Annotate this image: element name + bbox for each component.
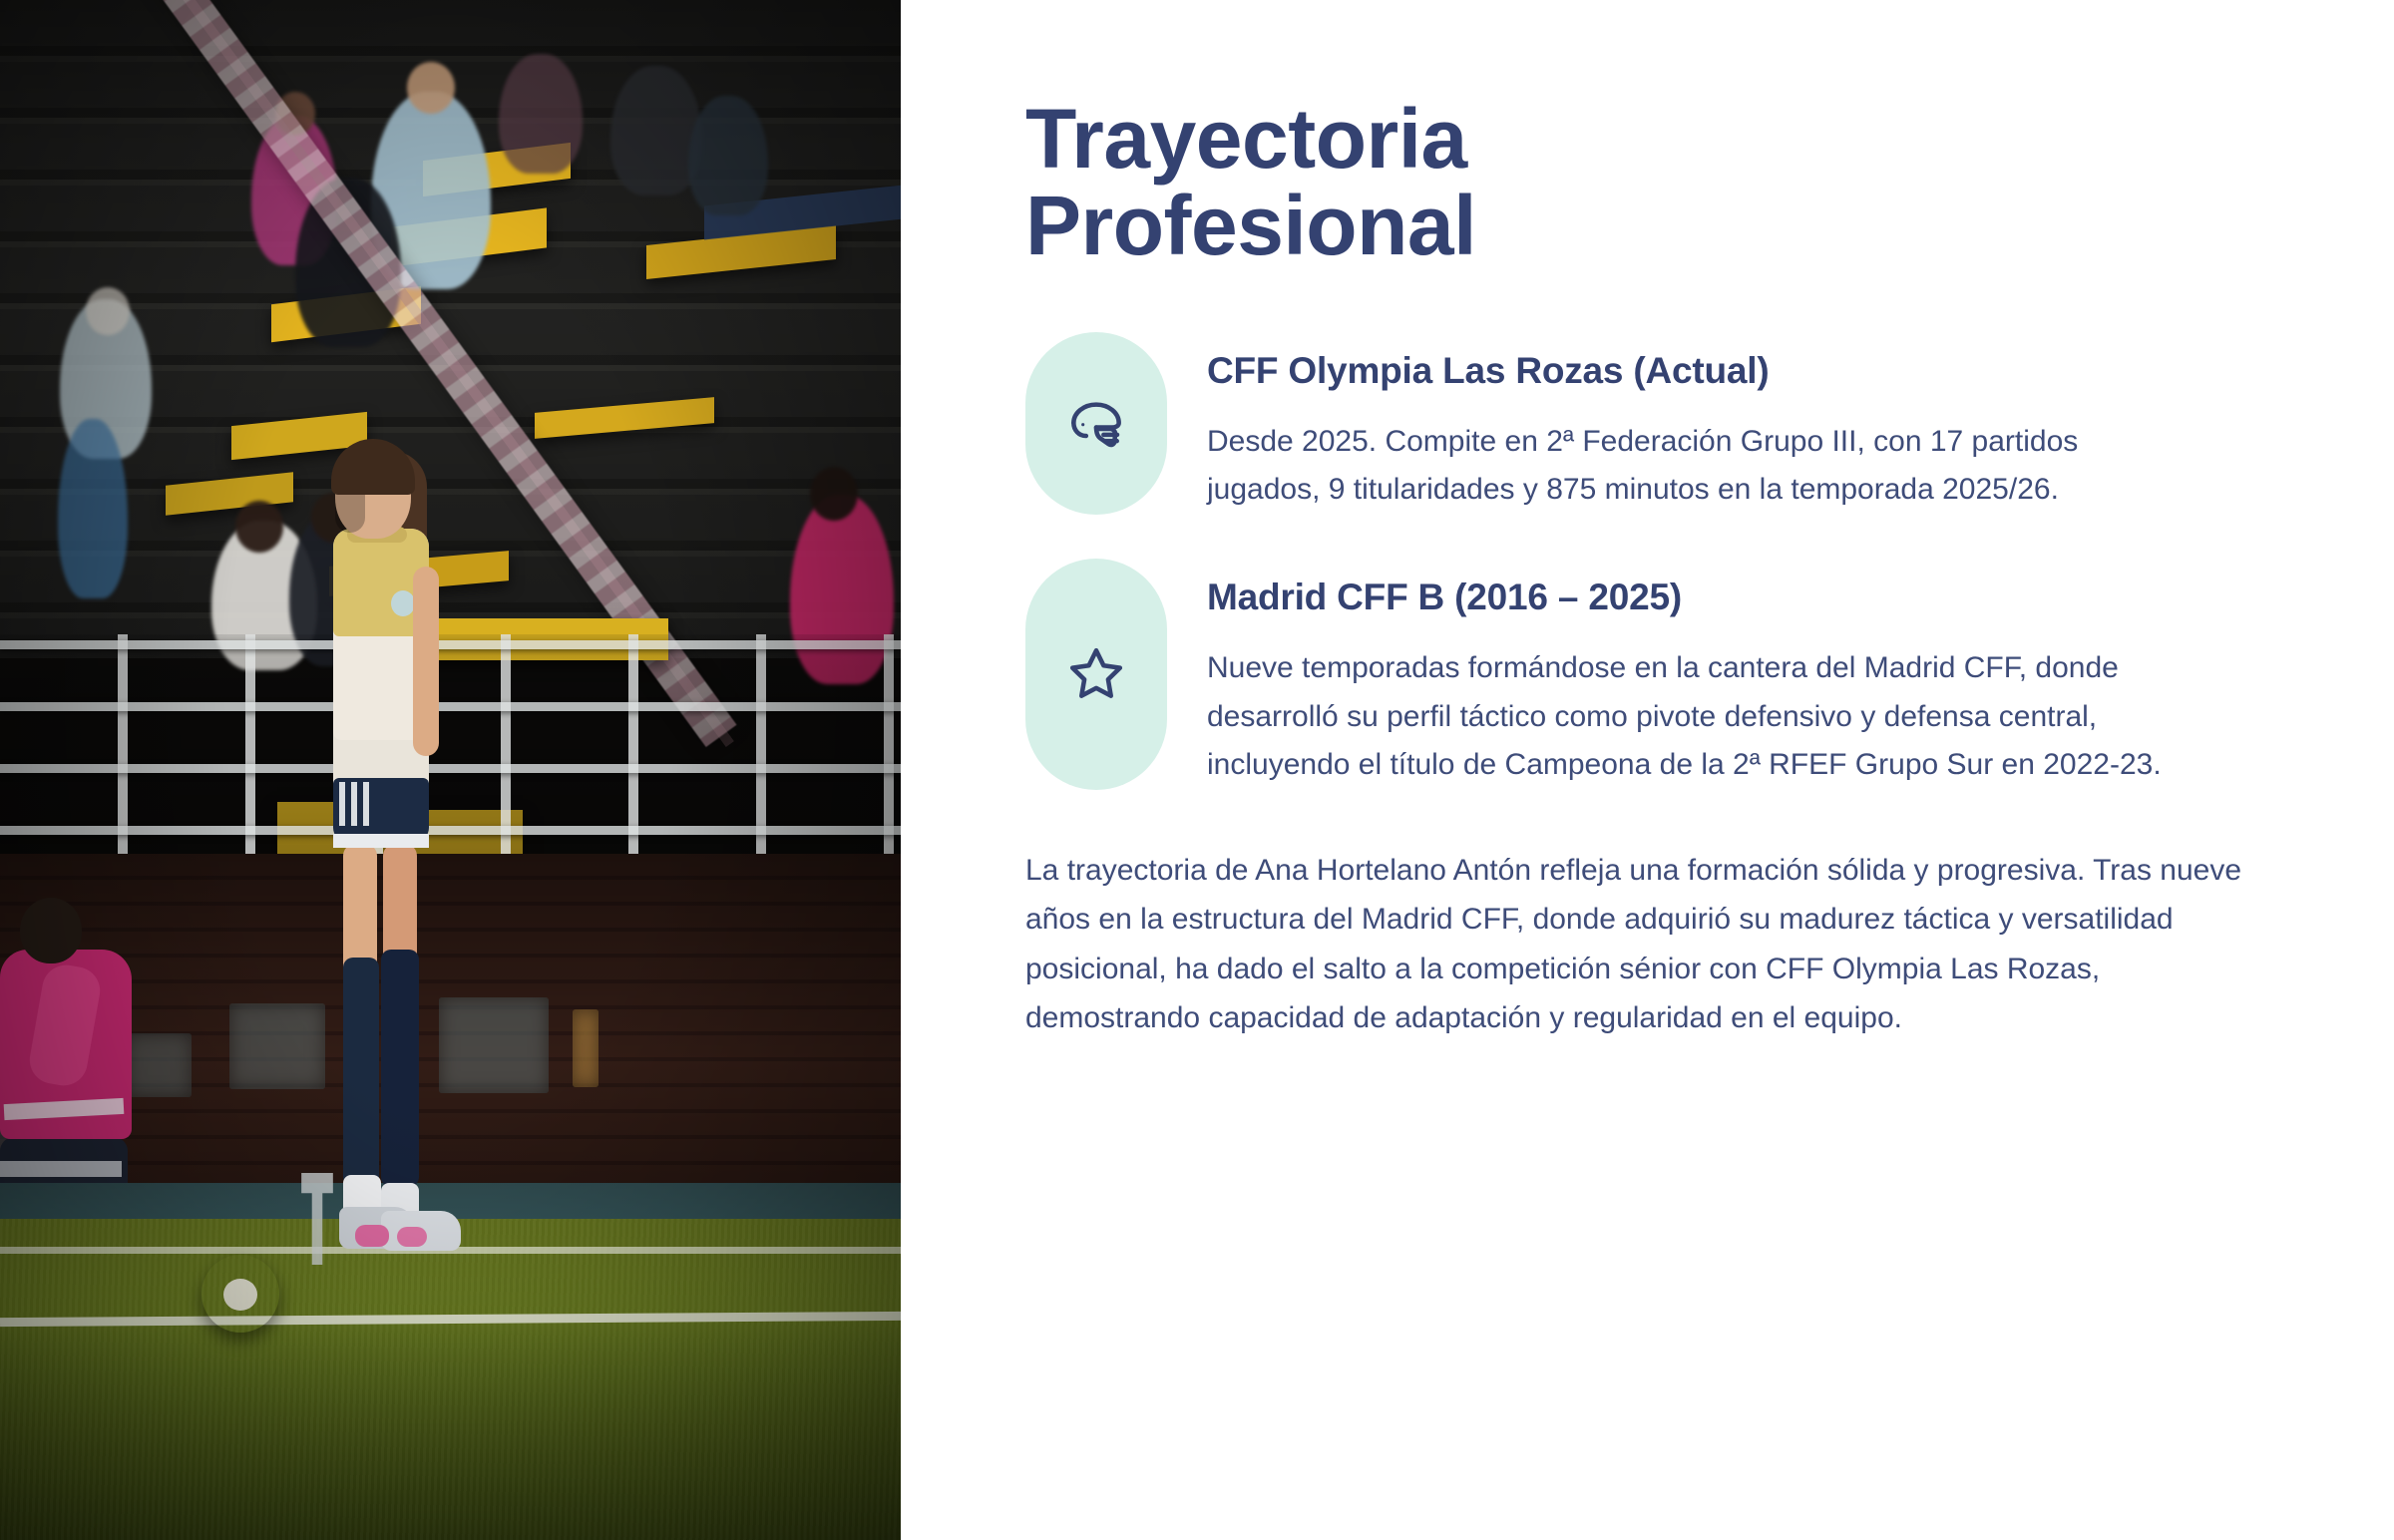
seated-person-head bbox=[20, 898, 82, 963]
wall-window bbox=[126, 1033, 192, 1097]
shorts-stripe bbox=[363, 782, 369, 826]
jacket-stripe bbox=[0, 1161, 122, 1177]
player-boot-accent bbox=[397, 1227, 427, 1247]
grass-texture bbox=[0, 1219, 901, 1540]
summary-paragraph: La trayectoria de Ana Hortelano Antón re… bbox=[1025, 846, 2262, 1043]
page-title: Trayectoria Profesional bbox=[1025, 96, 2274, 270]
spectator-head bbox=[235, 501, 283, 553]
card-text: Desde 2025. Compite en 2ª Federación Gru… bbox=[1207, 418, 2165, 515]
content-panel: Trayectoria Profesional bbox=[901, 0, 2394, 1540]
fence-rail bbox=[0, 640, 901, 649]
shorts-hem bbox=[333, 834, 429, 848]
soccer-ball-highlight bbox=[223, 1279, 257, 1311]
player-arm bbox=[413, 567, 439, 756]
stadium-photo bbox=[0, 0, 901, 1540]
spectator bbox=[58, 419, 128, 598]
card-icon-pill bbox=[1025, 332, 1167, 515]
card-title: CFF Olympia Las Rozas (Actual) bbox=[1207, 350, 2256, 392]
jersey-badge bbox=[391, 590, 415, 616]
card-text: Nueve temporadas formándose en la canter… bbox=[1207, 644, 2165, 790]
career-card: CFF Olympia Las Rozas (Actual) Desde 202… bbox=[1025, 332, 2274, 515]
career-card: Madrid CFF B (2016 – 2025) Nueve tempora… bbox=[1025, 559, 2274, 790]
star-icon bbox=[1062, 640, 1130, 708]
shorts-stripe bbox=[339, 782, 345, 826]
card-body: CFF Olympia Las Rozas (Actual) Desde 202… bbox=[1207, 332, 2274, 515]
spectator bbox=[499, 54, 583, 174]
wall-window bbox=[573, 1009, 598, 1087]
football-helmet-icon bbox=[1062, 389, 1130, 457]
spectator-head bbox=[86, 287, 130, 335]
spectator bbox=[688, 96, 768, 215]
wall-window bbox=[229, 1003, 325, 1089]
player-boot-accent bbox=[355, 1225, 389, 1247]
player-shorts-band bbox=[333, 778, 429, 842]
player-sock bbox=[381, 950, 419, 1187]
career-card-list: CFF Olympia Las Rozas (Actual) Desde 202… bbox=[1025, 332, 2274, 790]
player-sock bbox=[343, 958, 379, 1187]
card-icon-pill bbox=[1025, 559, 1167, 790]
fence-rail bbox=[0, 826, 901, 835]
spectator-head bbox=[810, 467, 858, 521]
shorts-stripe bbox=[351, 782, 357, 826]
fence-rail bbox=[0, 764, 901, 773]
card-body: Madrid CFF B (2016 – 2025) Nueve tempora… bbox=[1207, 559, 2274, 790]
slide-root: Trayectoria Profesional bbox=[0, 0, 2394, 1540]
fence-rail bbox=[0, 702, 901, 711]
spectator-head bbox=[407, 62, 455, 114]
wall-window bbox=[439, 997, 549, 1093]
card-title: Madrid CFF B (2016 – 2025) bbox=[1207, 577, 2256, 618]
